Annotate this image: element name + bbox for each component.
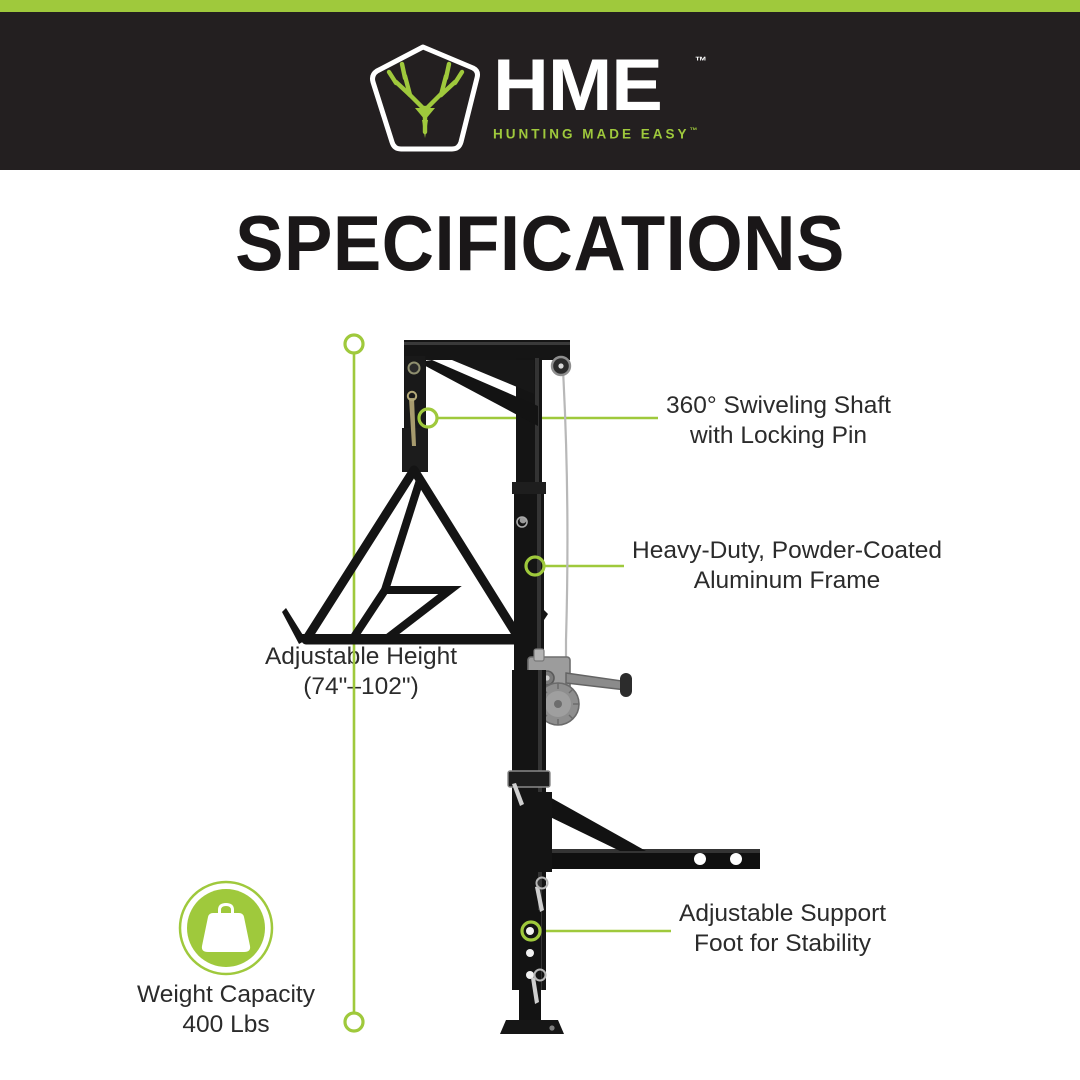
logo-hme-text: HME — [493, 50, 705, 122]
leader-marker-height-top — [345, 335, 363, 353]
support-arm-hole-1 — [694, 853, 706, 865]
support-arm-hole-2 — [730, 853, 742, 865]
gambrel-bar — [300, 634, 528, 642]
brand-logo: HME ™ HUNTING MADE EASY™ — [365, 42, 695, 154]
mast-collar-upper — [512, 482, 546, 494]
leader-marker-height-bottom — [345, 1013, 363, 1031]
logo-trademark-symbol: ™ — [695, 54, 707, 68]
base-plate-hole — [549, 1025, 554, 1030]
logo-tagline-trademark: ™ — [690, 126, 701, 135]
foot-hole-2 — [526, 949, 534, 957]
logo-tagline-text: HUNTING MADE EASY — [493, 127, 690, 142]
pulley-hub — [558, 363, 563, 368]
top-beam-highlight — [404, 342, 570, 345]
logo-tagline: HUNTING MADE EASY™ — [493, 126, 693, 142]
base-plate — [500, 1020, 564, 1034]
antler-shield-icon — [365, 42, 493, 154]
product-diagram — [0, 170, 1080, 1080]
support-arm — [538, 792, 760, 872]
winch-cable — [563, 370, 567, 668]
logo-wordmark: HME ™ HUNTING MADE EASY™ — [493, 50, 693, 154]
top-accent-bar — [0, 0, 1080, 12]
swivel-bolt — [409, 363, 420, 374]
mast-middle-highlight — [537, 482, 541, 674]
foot-hole-1 — [526, 927, 534, 935]
